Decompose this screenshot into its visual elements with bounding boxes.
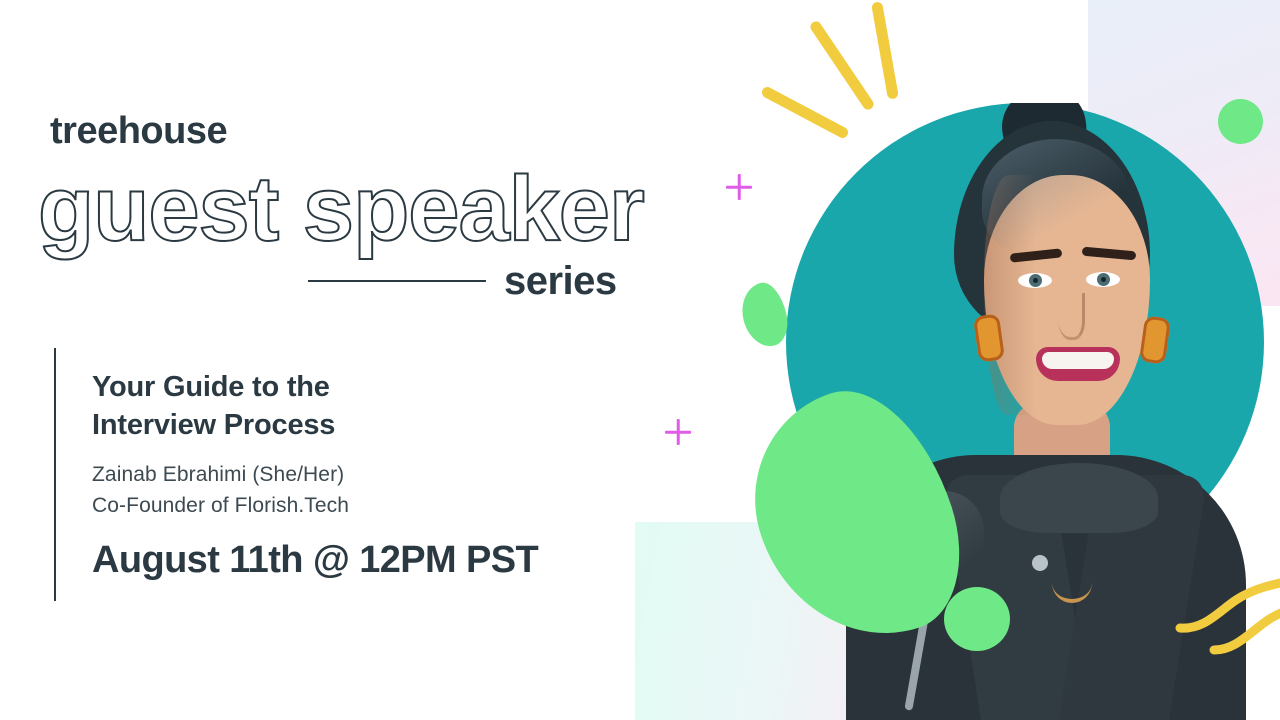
jacket-collar xyxy=(1000,463,1158,533)
eye-right xyxy=(1086,272,1120,287)
wavy-line-icon-b xyxy=(1212,600,1280,656)
talk-title-line-2: Interview Process xyxy=(92,406,612,444)
brand-wordmark: treehouse xyxy=(50,110,227,153)
session-info: Your Guide to the Interview Process Zain… xyxy=(92,368,612,582)
smile xyxy=(1036,347,1120,381)
speaker-name: Zainab Ebrahimi (She/Her) xyxy=(92,459,612,490)
earring-right xyxy=(1139,315,1171,364)
green-blob-small xyxy=(736,279,793,352)
jacket-stud xyxy=(1032,555,1048,571)
eye-left xyxy=(1018,273,1052,288)
talk-title: Your Guide to the Interview Process xyxy=(92,368,612,445)
speaker-role: Co-Founder of Florish.Tech xyxy=(92,490,612,521)
talk-title-line-1: Your Guide to the xyxy=(92,371,330,403)
promo-slide: treehouse guest speaker series Your Guid… xyxy=(0,0,1280,720)
brush-stroke-icon-b xyxy=(808,19,875,111)
headline-outline: guest speaker xyxy=(38,160,644,259)
series-label: series xyxy=(504,259,617,304)
plus-mark-icon-middle xyxy=(665,419,691,445)
brush-stroke-icon-c xyxy=(871,1,899,99)
vertical-accent-bar xyxy=(54,348,56,601)
plus-mark-icon-top xyxy=(726,174,752,200)
hair-sheen xyxy=(982,139,1130,259)
session-datetime: August 11th @ 12PM PST xyxy=(92,539,612,582)
nose xyxy=(1058,293,1085,340)
series-divider-rule xyxy=(308,280,486,282)
green-circle-bottom xyxy=(944,587,1010,651)
series-row: series xyxy=(308,256,624,306)
